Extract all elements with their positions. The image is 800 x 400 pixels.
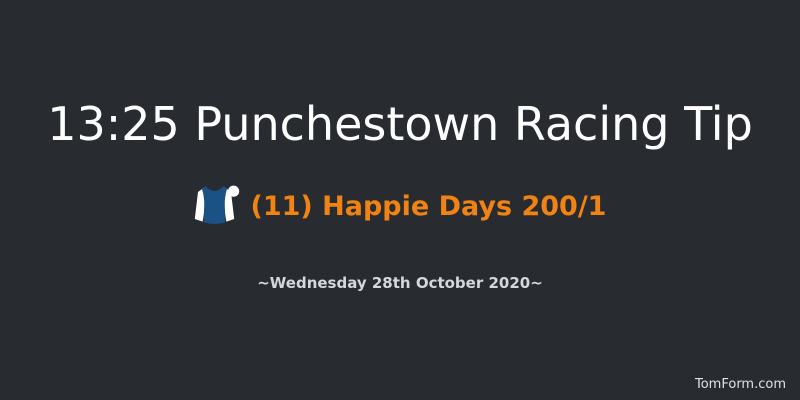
jockey-silk-icon	[194, 185, 240, 229]
racing-tip-card: 13:25 Punchestown Racing Tip (11) Happie…	[0, 0, 800, 400]
site-watermark: TomForm.com	[695, 377, 786, 393]
selection-row[interactable]: (11) Happie Days 200/1	[0, 184, 800, 230]
selection-label: (11) Happie Days 200/1	[251, 191, 607, 223]
page-title: 13:25 Punchestown Racing Tip	[0, 96, 800, 152]
race-date: ~Wednesday 28th October 2020~	[0, 273, 800, 293]
